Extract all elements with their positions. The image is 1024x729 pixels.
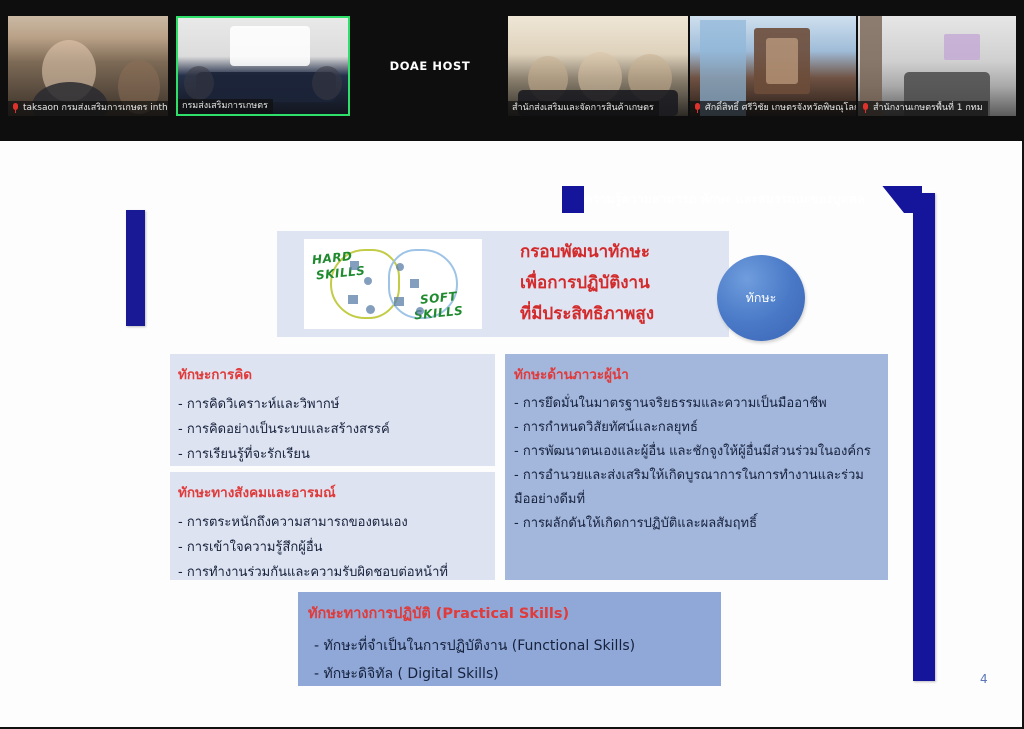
- panel-title: ทักษะการคิด: [178, 363, 495, 385]
- participant-name: สำนักงานเกษตรพื้นที่ 1 กทม: [873, 102, 983, 114]
- page-title-line2: เพื่อการปฏิบัติงาน: [520, 268, 720, 299]
- participant-name-bar: ศักดิ์สิทธิ์ ศรีวิชัย เกษตรจังหวัดพิษณุโ…: [690, 101, 856, 116]
- panel-item: - การคิดอย่างเป็นระบบและสร้างสรรค์: [178, 417, 495, 442]
- video-tile-2[interactable]: กรมส่งเสริมการเกษตร: [176, 16, 350, 116]
- panel-practical-skills: ทักษะทางการปฏิบัติ (Practical Skills) - …: [298, 592, 721, 686]
- panel-item: - การอำนวยและส่งเสริมให้เกิดบูรณาการในกา…: [514, 464, 874, 512]
- panel-item: - การกำหนดวิสัยทัศน์และกลยุทธ์: [514, 416, 888, 440]
- decorative-bar-right: [913, 193, 935, 681]
- panel-item: - ทักษะดิจิทัล ( Digital Skills): [308, 660, 721, 688]
- panel-leadership-skills: ทักษะด้านภาวะผู้นำ - การยึดมั่นในมาตรฐาน…: [505, 354, 888, 580]
- decorative-bar-left: [126, 210, 145, 326]
- panel-item: - การตระหนักถึงความสามารถของตนเอง: [178, 510, 495, 535]
- panel-thinking-skills: ทักษะการคิด - การคิดวิเคราะห์และวิพากษ์ …: [170, 354, 495, 466]
- banner-title: ความรู้ความสามารถ ทักษะ และสมรรถนะของบุค…: [584, 187, 865, 211]
- skill-circle: ทักษะ: [717, 255, 805, 341]
- panel-social-emotional-skills: ทักษะทางสังคมและอารมณ์ - การตระหนักถึงคว…: [170, 472, 495, 580]
- mic-muted-icon: [862, 103, 869, 113]
- panel-item: - การผลักดันให้เกิดการปฏิบัติและผลสัมฤทธ…: [514, 512, 888, 536]
- panel-item: - การยึดมั่นในมาตรฐานจริยธรรมและความเป็น…: [514, 392, 888, 416]
- participant-name: taksaon กรมส่งเสริมการเกษตร inthu...: [23, 102, 168, 114]
- panel-title: ทักษะทางการปฏิบัติ (Practical Skills): [308, 602, 721, 625]
- video-tile-6[interactable]: สำนักงานเกษตรพื้นที่ 1 กทม: [858, 16, 1016, 116]
- participant-name: ศักดิ์สิทธิ์ ศรีวิชัย เกษตรจังหวัดพิษณุโ…: [705, 102, 856, 114]
- panel-item: - การคิดวิเคราะห์และวิพากษ์: [178, 392, 495, 417]
- panel-item: - การเข้าใจความรู้สึกผู้อื่น: [178, 535, 495, 560]
- page-title-line1: กรอบพัฒนาทักษะ: [520, 237, 720, 268]
- page-title: กรอบพัฒนาทักษะ เพื่อการปฏิบัติงาน ที่มีป…: [520, 237, 720, 330]
- page-title-line3: ที่มีประสิทธิภาพสูง: [520, 299, 720, 330]
- video-tile-5[interactable]: ศักดิ์สิทธิ์ ศรีวิชัย เกษตรจังหวัดพิษณุโ…: [690, 16, 856, 116]
- video-conference-strip: taksaon กรมส่งเสริมการเกษตร inthu... กรม…: [0, 0, 1024, 141]
- panel-title: ทักษะด้านภาวะผู้นำ: [514, 363, 888, 385]
- shared-slide: ความรู้ความสามารถ ทักษะ และสมรรถนะของบุค…: [0, 141, 1024, 729]
- participant-name-bar: สำนักส่งเสริมและจัดการสินค้าเกษตร: [508, 101, 659, 116]
- participant-name-bar: สำนักงานเกษตรพื้นที่ 1 กทม: [858, 101, 988, 116]
- panel-item: - การพัฒนาตนเองและผู้อื่น และชักจูงให้ผู…: [514, 440, 874, 464]
- panel-title: ทักษะทางสังคมและอารมณ์: [178, 481, 495, 503]
- page-number: 4: [980, 672, 988, 686]
- video-tile-1[interactable]: taksaon กรมส่งเสริมการเกษตร inthu...: [8, 16, 168, 116]
- participant-name-bar: กรมส่งเสริมการเกษตร: [178, 99, 273, 114]
- mic-muted-icon: [12, 103, 19, 113]
- video-tile-4[interactable]: สำนักส่งเสริมและจัดการสินค้าเกษตร: [508, 16, 688, 116]
- hard-soft-skills-image: HARD SKILLS SOFT SKILLS: [304, 239, 482, 329]
- panel-item: - การทำงานร่วมกันและความรับผิดชอบต่อหน้า…: [178, 560, 495, 585]
- host-label: DOAE HOST: [352, 16, 508, 116]
- participant-name-bar: taksaon กรมส่งเสริมการเกษตร inthu...: [8, 101, 168, 116]
- participant-name: สำนักส่งเสริมและจัดการสินค้าเกษตร: [512, 102, 654, 114]
- skill-circle-label: ทักษะ: [746, 288, 777, 308]
- panel-item: - ทักษะที่จำเป็นในการปฏิบัติงาน (Functio…: [308, 632, 721, 660]
- participant-name: กรมส่งเสริมการเกษตร: [182, 100, 268, 112]
- panel-item: - การเรียนรู้ที่จะรักเรียน: [178, 442, 495, 467]
- mic-muted-icon: [694, 103, 701, 113]
